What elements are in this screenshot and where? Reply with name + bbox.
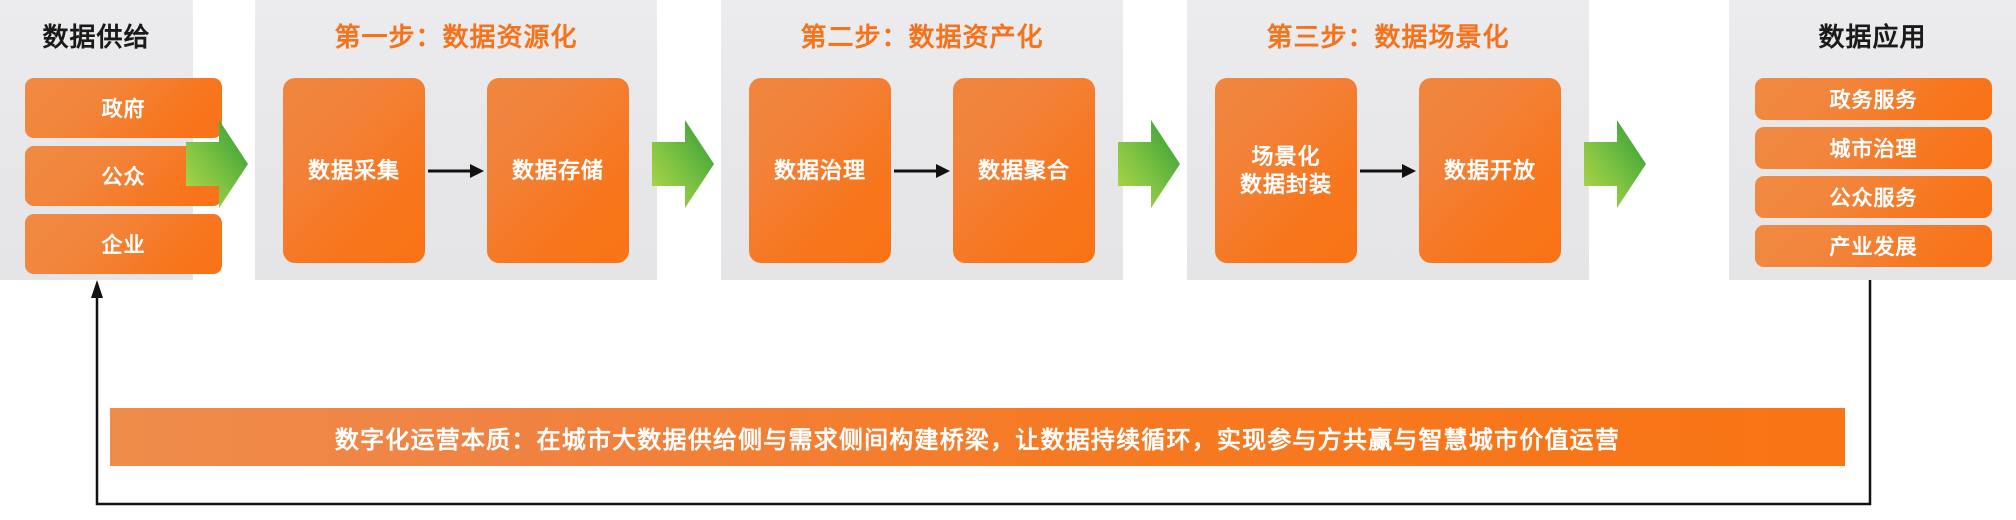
arrow-right-glyph — [428, 162, 484, 180]
summary-banner: 数字化运营本质：在城市大数据供给侧与需求侧间构建桥梁，让数据持续循环，实现参与方… — [110, 408, 1845, 466]
green-arrow-icon — [186, 118, 248, 210]
green-arrow-step1-to-step2 — [652, 118, 714, 210]
supply-item-enterprise[interactable]: 企业 — [25, 214, 222, 274]
step-card-line: 数据封装 — [1240, 171, 1332, 199]
panel-title-step-2: 第二步：数据资产化 — [721, 24, 1123, 50]
feedback-loop-connector — [0, 276, 2016, 520]
panel-title-data-application: 数据应用 — [1729, 24, 2016, 50]
arrow-up-icon — [91, 280, 103, 298]
application-item-label: 公众服务 — [1830, 182, 1918, 212]
step-card-data-collection[interactable]: 数据采集 — [283, 78, 425, 263]
application-item-industry-development[interactable]: 产业发展 — [1755, 225, 1992, 267]
application-item-government-services[interactable]: 政务服务 — [1755, 78, 1992, 120]
supply-item-label: 企业 — [102, 229, 146, 259]
arrow-right-glyph — [894, 162, 950, 180]
panel-step-1: 第一步：数据资源化 数据采集 数据存储 — [255, 0, 657, 280]
green-arrow-step3-to-application — [1584, 118, 1646, 210]
step-card-text: 数据采集 — [308, 157, 400, 185]
step-card-line: 场景化 — [1240, 143, 1332, 171]
green-arrow-supply-to-step1 — [186, 118, 248, 210]
panel-step-3: 第三步：数据场景化 场景化 数据封装 数据开放 — [1187, 0, 1589, 280]
step-card-line: 数据存储 — [512, 157, 604, 185]
application-item-label: 城市治理 — [1830, 133, 1918, 163]
arrow-right-icon — [1357, 78, 1419, 263]
arrow-right-icon — [425, 78, 487, 263]
panel-data-application: 数据应用 政务服务 城市治理 公众服务 产业发展 — [1729, 0, 2016, 280]
application-item-city-governance[interactable]: 城市治理 — [1755, 127, 1992, 169]
step-card-data-opening[interactable]: 数据开放 — [1419, 78, 1561, 263]
panel-title-data-supply: 数据供给 — [0, 24, 193, 50]
panel-title-step-3: 第三步：数据场景化 — [1187, 24, 1589, 50]
panel-step-2: 第二步：数据资产化 数据治理 数据聚合 — [721, 0, 1123, 280]
arrow-right-glyph — [1360, 162, 1416, 180]
application-pill-stack: 政务服务 城市治理 公众服务 产业发展 — [1755, 78, 1992, 267]
green-arrow-icon — [1584, 118, 1646, 210]
step-card-line: 数据聚合 — [978, 157, 1070, 185]
step-2-card-row: 数据治理 数据聚合 — [749, 78, 1095, 263]
step-card-line: 数据治理 — [774, 157, 866, 185]
step-card-text: 数据治理 — [774, 157, 866, 185]
step-card-text: 数据聚合 — [978, 157, 1070, 185]
arrow-right-icon — [891, 78, 953, 263]
green-arrow-icon — [1118, 118, 1180, 210]
step-card-data-governance[interactable]: 数据治理 — [749, 78, 891, 263]
supply-item-label: 公众 — [102, 161, 146, 191]
application-item-label: 政务服务 — [1830, 84, 1918, 114]
application-item-label: 产业发展 — [1830, 231, 1918, 261]
supply-item-label: 政府 — [102, 93, 146, 123]
step-card-scenario-packaging[interactable]: 场景化 数据封装 — [1215, 78, 1357, 263]
diagram-canvas: 数据供给 政府 公众 企业 第一步： — [0, 0, 2016, 520]
step-1-card-row: 数据采集 数据存储 — [283, 78, 629, 263]
application-item-public-services[interactable]: 公众服务 — [1755, 176, 1992, 218]
feedback-loop-path — [97, 280, 1870, 504]
step-card-text: 场景化 数据封装 — [1240, 143, 1332, 198]
panel-data-supply: 数据供给 政府 公众 企业 — [0, 0, 193, 280]
step-card-text: 数据存储 — [512, 157, 604, 185]
panel-title-step-1: 第一步：数据资源化 — [255, 24, 657, 50]
step-card-data-storage[interactable]: 数据存储 — [487, 78, 629, 263]
step-card-line: 数据采集 — [308, 157, 400, 185]
step-3-card-row: 场景化 数据封装 数据开放 — [1215, 78, 1561, 263]
step-card-text: 数据开放 — [1444, 157, 1536, 185]
step-card-line: 数据开放 — [1444, 157, 1536, 185]
step-card-data-aggregation[interactable]: 数据聚合 — [953, 78, 1095, 263]
green-arrow-step2-to-step3 — [1118, 118, 1180, 210]
green-arrow-icon — [652, 118, 714, 210]
